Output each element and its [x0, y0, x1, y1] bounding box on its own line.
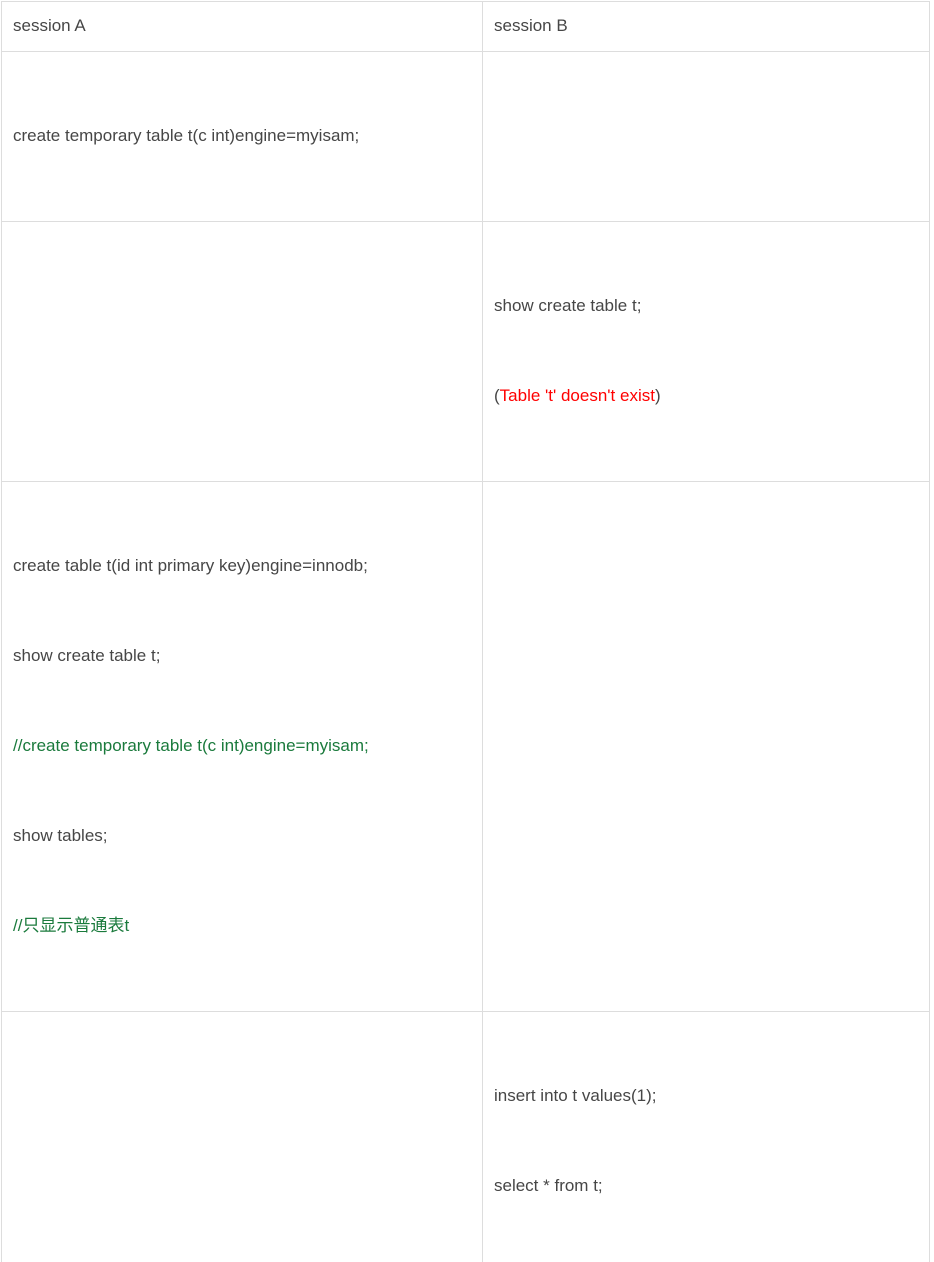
column-header-session-b: session B: [483, 2, 930, 52]
sql-comment-line: //返回 1: [494, 1261, 919, 1262]
sql-line: show create table t;: [13, 641, 472, 671]
sql-comment-line: //create temporary table t(c int)engine=…: [13, 731, 472, 761]
column-header-session-a-label: session A: [13, 16, 86, 35]
sql-line: insert into t values(1);: [494, 1081, 919, 1111]
table-row: create temporary table t(c int)engine=my…: [2, 52, 930, 222]
sql-line: create temporary table t(c int)engine=my…: [13, 121, 472, 151]
sql-error-line: (Table 't' doesn't exist): [494, 381, 919, 411]
close-paren: ): [655, 386, 661, 405]
cell-session-a: [2, 1012, 483, 1262]
sql-line: create table t(id int primary key)engine…: [13, 551, 472, 581]
sql-line: show create table t;: [494, 291, 919, 321]
cell-session-a: create temporary table t(c int)engine=my…: [2, 52, 483, 222]
table-row: insert into t values(1); select * from t…: [2, 1012, 930, 1262]
cell-session-a: create table t(id int primary key)engine…: [2, 482, 483, 1012]
table-header-row: session A session B: [2, 2, 930, 52]
cell-session-b: [483, 52, 930, 222]
error-message: Table 't' doesn't exist: [500, 386, 655, 405]
cell-session-b: [483, 482, 930, 1012]
table-row: create table t(id int primary key)engine…: [2, 482, 930, 1012]
column-header-session-b-label: session B: [494, 16, 568, 35]
session-comparison-table: session A session B create temporary tab…: [1, 1, 930, 1262]
column-header-session-a: session A: [2, 2, 483, 52]
cell-session-b: insert into t values(1); select * from t…: [483, 1012, 930, 1262]
cell-session-a: [2, 222, 483, 482]
sql-line: select * from t;: [494, 1171, 919, 1201]
table-row: show create table t; (Table 't' doesn't …: [2, 222, 930, 482]
cell-session-b: show create table t; (Table 't' doesn't …: [483, 222, 930, 482]
table-body: session A session B create temporary tab…: [2, 2, 930, 1262]
sql-line: show tables;: [13, 821, 472, 851]
sql-comment-line: //只显示普通表t: [13, 911, 472, 941]
